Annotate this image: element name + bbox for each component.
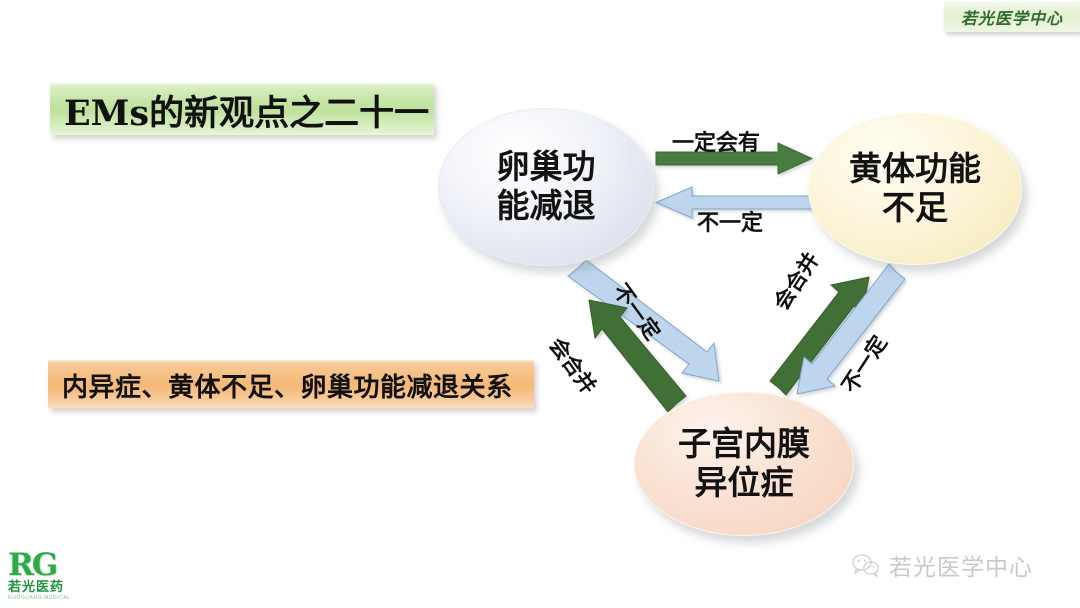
brand-logo: RG 若光医药 RUOGUANG MEDICAL <box>8 549 104 605</box>
logo-name-cn: 若光医药 <box>8 581 104 595</box>
edge-label-ovary-to-corpus: 一定会有 <box>672 125 760 157</box>
node-endometriosis: 子宫内膜 异位症 <box>634 392 854 536</box>
node-ovary-decline: 卵巢功 能减退 <box>438 108 654 266</box>
slide-canvas: 若光医学中心 EMs的新观点之二十一 内异症、黄体不足、卵巢功能减退关系 <box>0 0 1080 608</box>
node-corpus-label: 黄体功能 不足 <box>849 150 981 228</box>
node-corpus-luteum-insufficiency: 黄体功能 不足 <box>808 113 1022 265</box>
watermark-bottom: 若光医学中心 <box>852 548 1033 582</box>
logo-name-en: RUOGUANG MEDICAL <box>8 595 104 602</box>
watermark-bottom-text: 若光医学中心 <box>889 548 1033 582</box>
wechat-icon <box>852 553 880 577</box>
node-ovary-label: 卵巢功 能减退 <box>497 148 596 226</box>
diagram-arrow-layer <box>0 0 1080 608</box>
edge-label-corpus-to-ovary: 不一定 <box>697 205 763 237</box>
logo-mark-text: RG <box>8 549 104 581</box>
node-endometriosis-label: 子宫内膜 异位症 <box>678 425 810 503</box>
